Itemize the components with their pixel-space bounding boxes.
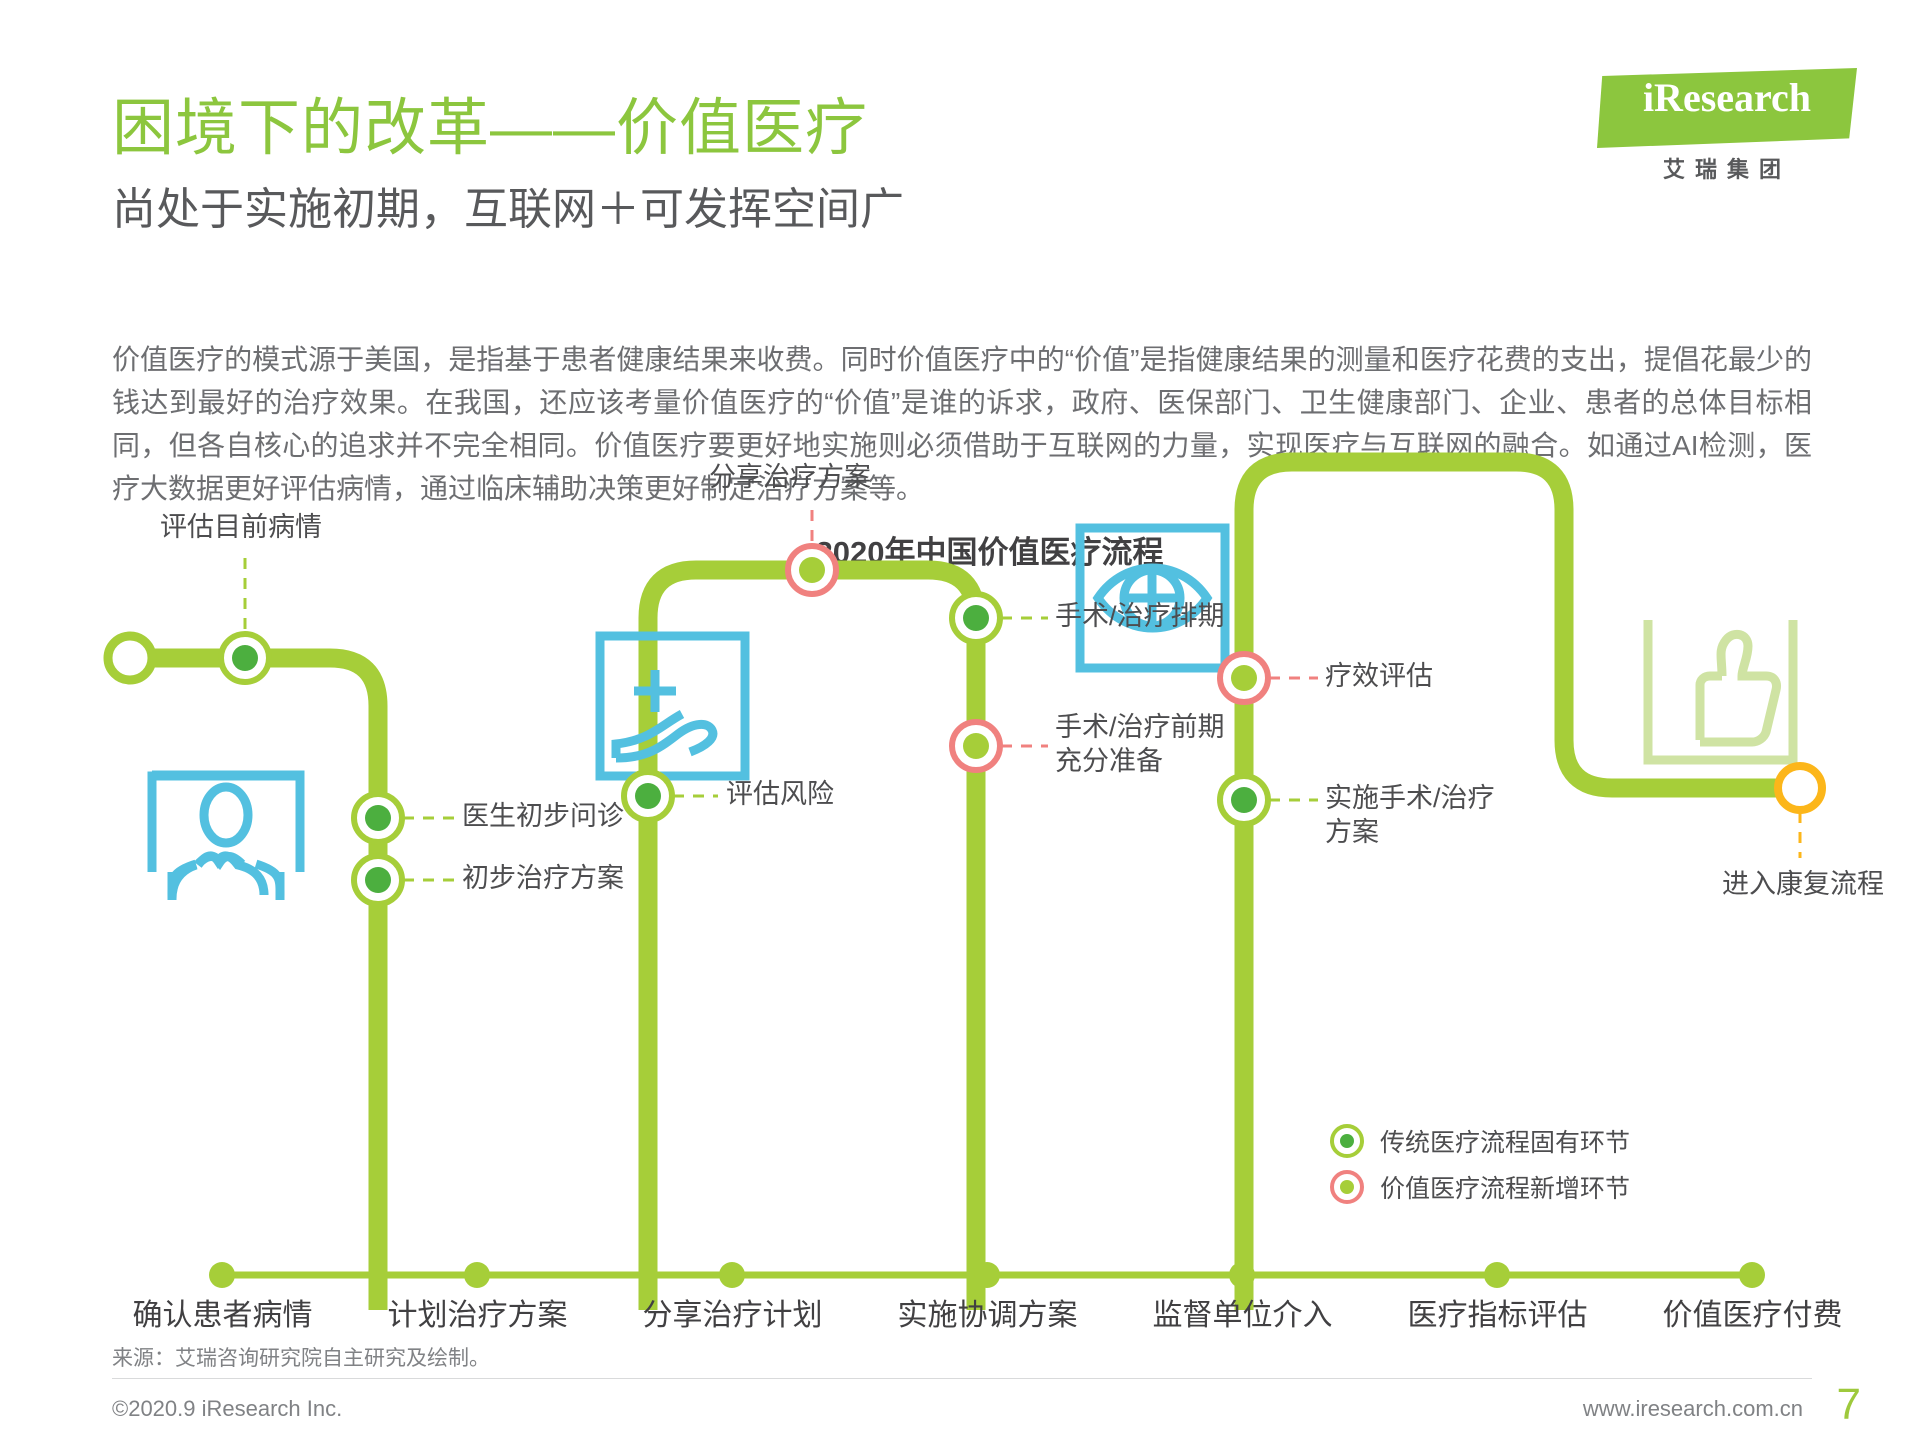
care-hand-icon [600, 636, 745, 776]
node-label-8: 疗效评估 [1325, 659, 1433, 693]
page-subtitle: 尚处于实施初期，互联网＋可发挥空间广 [112, 185, 904, 236]
legend-row-new: 价值医疗流程新增环节 [1330, 1164, 1750, 1210]
node-start [108, 636, 152, 680]
node-label-1: 医生初步问诊 [462, 799, 624, 833]
timeline-item-0: 确认患者病情 [95, 1290, 350, 1334]
thumbs-up-icon [1648, 620, 1793, 760]
logo-wordmark: iResearch [1597, 74, 1857, 121]
node-label-3: 评估风险 [726, 777, 834, 811]
node-label-9: 进入康复流程 [1722, 867, 1884, 901]
timeline-item-2: 分享治疗计划 [605, 1290, 860, 1334]
node-label-2: 初步治疗方案 [462, 861, 624, 895]
legend-dot-traditional-icon [1330, 1124, 1364, 1158]
footer-copyright: ©2020.9 iResearch Inc. [112, 1396, 342, 1422]
node-label-4: 分享治疗方案 [709, 460, 871, 494]
timeline-item-4: 监督单位介入 [1115, 1290, 1370, 1334]
logo-chinese-name: 艾瑞集团 [1597, 152, 1857, 184]
footer-divider [112, 1378, 1812, 1379]
timeline-item-1: 计划治疗方案 [350, 1290, 605, 1334]
source-note: 来源：艾瑞咨询研究院自主研究及绘制。 [112, 1342, 490, 1372]
node-end [1778, 766, 1822, 810]
node-label-0: 评估目前病情 [160, 510, 322, 544]
page-number: 7 [1837, 1380, 1861, 1430]
page-title: 困境下的改革——价值医疗 [112, 95, 868, 163]
timeline-labels: 确认患者病情 计划治疗方案 分享治疗计划 实施协调方案 监督单位介入 医疗指标评… [0, 1290, 1919, 1334]
timeline-item-5: 医疗指标评估 [1370, 1290, 1625, 1334]
slide-page: 困境下的改革——价值医疗 尚处于实施初期，互联网＋可发挥空间广 iResearc… [0, 0, 1919, 1439]
legend-row-traditional: 传统医疗流程固有环节 [1330, 1118, 1750, 1164]
iresearch-logo: iResearch 艾瑞集团 [1597, 68, 1857, 193]
timeline-item-6: 价值医疗付费 [1625, 1290, 1880, 1334]
node-label-6: 手术/治疗前期 充分准备 [1055, 710, 1225, 778]
legend-label-traditional: 传统医疗流程固有环节 [1380, 1123, 1630, 1159]
footer-website: www.iresearch.com.cn [1583, 1396, 1803, 1422]
node-label-5: 手术/治疗排期 [1055, 599, 1225, 633]
timeline-item-3: 实施协调方案 [860, 1290, 1115, 1334]
legend-dot-new-icon [1330, 1170, 1364, 1204]
diagram-legend: 传统医疗流程固有环节 价值医疗流程新增环节 [1330, 1118, 1750, 1210]
legend-label-new: 价值医疗流程新增环节 [1380, 1169, 1630, 1205]
eye-evaluation-icon [1080, 528, 1225, 668]
node-label-7: 实施手术/治疗 方案 [1325, 781, 1495, 849]
